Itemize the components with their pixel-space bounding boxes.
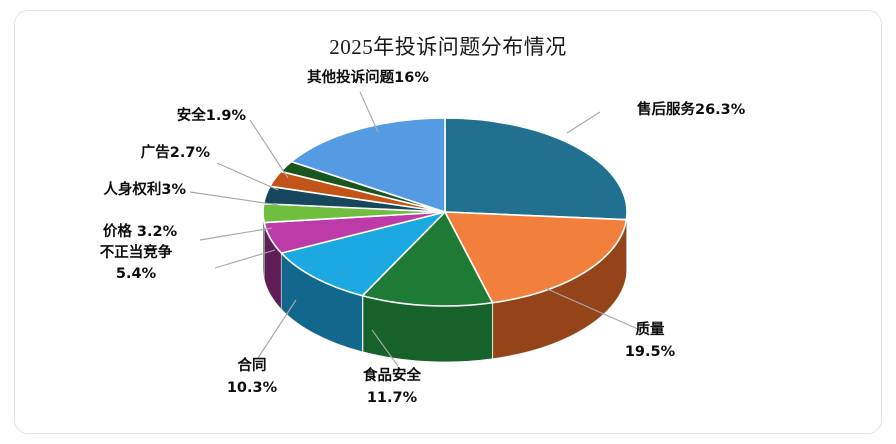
slice-label-advertising: 广告2.7% [60,145,210,163]
slice-label-price: 价格 3.2% [74,224,206,242]
pie-3d-body [263,118,627,362]
slice-label-quality-name: 质量 [604,322,696,340]
slice-label-personal-rights: 人身权利3% [36,182,186,200]
slice-label-others: 其他投诉问题16% [268,70,468,88]
slice-label-contract-name: 合同 [203,358,301,376]
slice-label-after-sales: 售后服务26.3% [637,102,745,120]
slice-label-food-pct: 11.7% [340,390,444,408]
slice-label-contract-pct: 10.3% [203,380,301,398]
slice-label-food-name: 食品安全 [340,368,444,386]
slice-label-unfair-name: 不正当竞争 [66,245,206,263]
slice-label-quality-pct: 19.5% [604,344,696,362]
slice-label-safety: 安全1.9% [96,108,246,126]
pie-chart-plot [0,0,896,444]
slice-label-unfair-pct: 5.4% [66,266,206,284]
